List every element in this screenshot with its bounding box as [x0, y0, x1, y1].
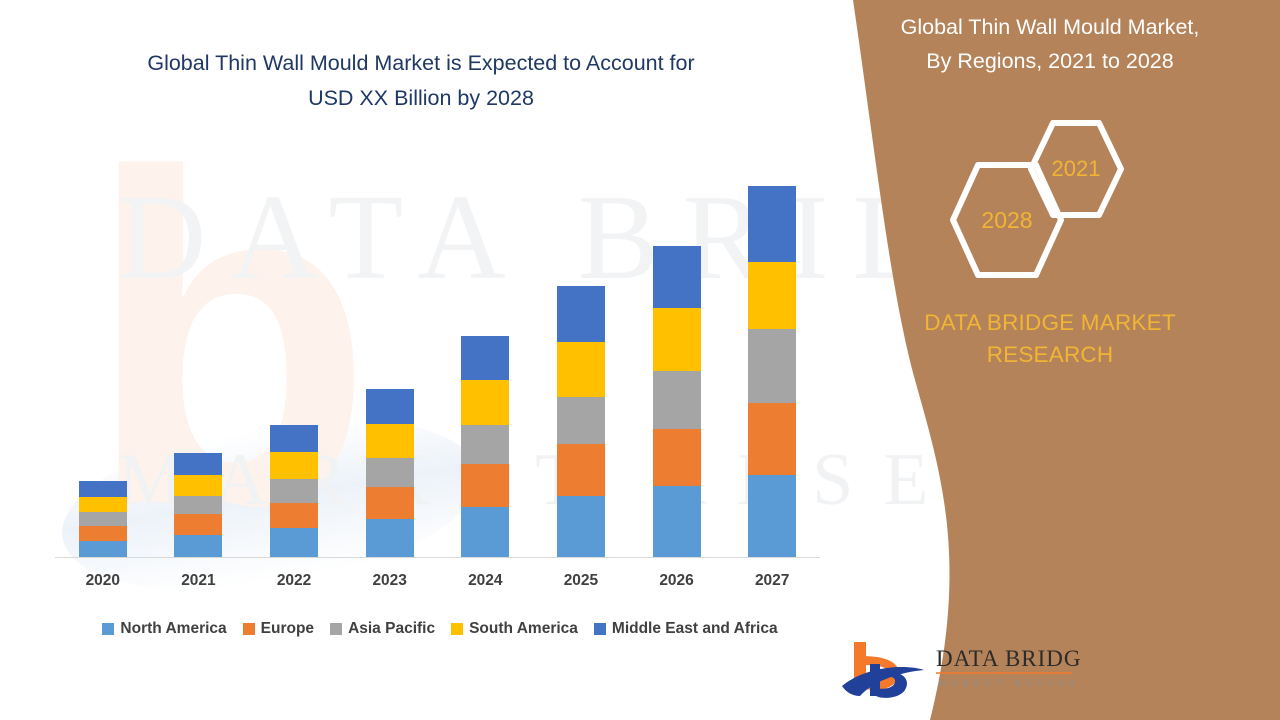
bar-segment-asia-pacific-2022[interactable] — [270, 479, 318, 502]
bar-segment-south-america-2024[interactable] — [461, 380, 509, 425]
bar-segment-europe-2026[interactable] — [653, 429, 701, 486]
bar-segment-europe-2023[interactable] — [366, 487, 414, 519]
bar-segment-north-america-2026[interactable] — [653, 486, 701, 558]
brand-line-1: DATA BRIDGE MARKET — [840, 307, 1260, 339]
bar-segment-europe-2025[interactable] — [557, 444, 605, 495]
legend-swatch-icon — [594, 623, 606, 635]
legend-label: Europe — [261, 620, 314, 638]
bar-segment-europe-2022[interactable] — [270, 503, 318, 528]
legend-item-middle-east-and-africa[interactable]: Middle East and Africa — [594, 620, 778, 638]
legend-label: North America — [120, 620, 226, 638]
x-axis-labels: 20202021202220232024202520262027 — [55, 572, 820, 596]
slide-canvas: b DATA BRIDGE MARKET RESEARCH Global Thi… — [0, 0, 1280, 720]
bar-segment-middle-east-and-africa-2021[interactable] — [174, 453, 222, 474]
logo-subtitle: MARKET RESEARCH — [938, 678, 1080, 688]
x-axis-label-2022: 2022 — [259, 572, 329, 590]
bar-segment-north-america-2020[interactable] — [79, 541, 127, 558]
bar-2027[interactable] — [748, 150, 796, 558]
panel-title-line-2: By Regions, 2021 to 2028 — [840, 44, 1260, 78]
bar-segment-asia-pacific-2027[interactable] — [748, 329, 796, 403]
legend-item-south-america[interactable]: South America — [451, 620, 578, 638]
bar-segment-asia-pacific-2020[interactable] — [79, 512, 127, 526]
bar-segment-middle-east-and-africa-2020[interactable] — [79, 481, 127, 497]
bar-segment-south-america-2021[interactable] — [174, 475, 222, 496]
legend-label: South America — [469, 620, 578, 638]
bar-segment-south-america-2027[interactable] — [748, 262, 796, 329]
x-axis-label-2021: 2021 — [163, 572, 233, 590]
brand-name: DATA BRIDGE MARKET RESEARCH — [840, 307, 1260, 371]
hexagon-group: 2028 2021 — [820, 118, 1280, 288]
legend-item-europe[interactable]: Europe — [243, 620, 314, 638]
legend-swatch-icon — [102, 623, 114, 635]
right-panel: Global Thin Wall Mould Market, By Region… — [820, 0, 1280, 720]
bar-segment-south-america-2026[interactable] — [653, 308, 701, 370]
bar-segment-middle-east-and-africa-2026[interactable] — [653, 246, 701, 308]
bar-segment-south-america-2020[interactable] — [79, 497, 127, 513]
legend-item-asia-pacific[interactable]: Asia Pacific — [330, 620, 435, 638]
x-axis-label-2026: 2026 — [642, 572, 712, 590]
bar-segment-south-america-2022[interactable] — [270, 452, 318, 479]
panel-title-line-1: Global Thin Wall Mould Market, — [840, 10, 1260, 44]
x-axis-label-2023: 2023 — [355, 572, 425, 590]
bar-segment-middle-east-and-africa-2027[interactable] — [748, 186, 796, 262]
bar-2024[interactable] — [461, 150, 509, 558]
bar-segment-north-america-2022[interactable] — [270, 528, 318, 558]
bar-segment-south-america-2025[interactable] — [557, 342, 605, 396]
x-axis-label-2027: 2027 — [737, 572, 807, 590]
hexagon-2021: 2021 — [1026, 118, 1126, 220]
legend-label: Asia Pacific — [348, 620, 435, 638]
bar-segment-europe-2027[interactable] — [748, 403, 796, 476]
bar-segment-south-america-2023[interactable] — [366, 424, 414, 458]
bar-segment-europe-2024[interactable] — [461, 464, 509, 507]
bar-segment-north-america-2024[interactable] — [461, 507, 509, 558]
hexagon-2021-label: 2021 — [1026, 118, 1126, 220]
bar-segment-north-america-2023[interactable] — [366, 519, 414, 558]
bar-segment-north-america-2027[interactable] — [748, 475, 796, 558]
bar-segment-middle-east-and-africa-2023[interactable] — [366, 389, 414, 424]
bar-segment-north-america-2021[interactable] — [174, 535, 222, 558]
bar-2020[interactable] — [79, 150, 127, 558]
brand-line-2: RESEARCH — [840, 339, 1260, 371]
data-bridge-logo: DATA BRIDGE MARKET RESEARCH — [840, 636, 1080, 702]
bar-segment-north-america-2025[interactable] — [557, 496, 605, 558]
panel-title: Global Thin Wall Mould Market, By Region… — [840, 10, 1260, 78]
logo-mark-icon: DATA BRIDGE MARKET RESEARCH — [840, 636, 1080, 702]
bar-segment-asia-pacific-2021[interactable] — [174, 496, 222, 514]
x-axis-label-2024: 2024 — [450, 572, 520, 590]
x-axis-label-2025: 2025 — [546, 572, 616, 590]
bar-2023[interactable] — [366, 150, 414, 558]
legend-label: Middle East and Africa — [612, 620, 778, 638]
bar-segment-asia-pacific-2023[interactable] — [366, 458, 414, 487]
legend-item-north-america[interactable]: North America — [102, 620, 226, 638]
chart-legend: North AmericaEuropeAsia PacificSouth Ame… — [55, 617, 825, 641]
bar-2021[interactable] — [174, 150, 222, 558]
chart-title-line-2: USD XX Billion by 2028 — [64, 81, 778, 116]
stacked-bar-plot — [55, 150, 820, 558]
legend-swatch-icon — [243, 623, 255, 635]
bar-segment-asia-pacific-2025[interactable] — [557, 397, 605, 445]
bar-2025[interactable] — [557, 150, 605, 558]
legend-swatch-icon — [451, 623, 463, 635]
bar-segment-europe-2021[interactable] — [174, 514, 222, 534]
x-axis-label-2020: 2020 — [68, 572, 138, 590]
bar-segment-europe-2020[interactable] — [79, 526, 127, 541]
bar-segment-asia-pacific-2026[interactable] — [653, 371, 701, 429]
chart-title-line-1: Global Thin Wall Mould Market is Expecte… — [64, 46, 778, 81]
bar-segment-middle-east-and-africa-2024[interactable] — [461, 336, 509, 381]
legend-swatch-icon — [330, 623, 342, 635]
bar-segment-middle-east-and-africa-2025[interactable] — [557, 286, 605, 342]
chart-title: Global Thin Wall Mould Market is Expecte… — [64, 46, 778, 116]
bar-segment-asia-pacific-2024[interactable] — [461, 425, 509, 464]
bar-segment-middle-east-and-africa-2022[interactable] — [270, 425, 318, 452]
bar-2026[interactable] — [653, 150, 701, 558]
x-axis-line — [55, 557, 820, 558]
bar-2022[interactable] — [270, 150, 318, 558]
logo-title: DATA BRIDGE — [936, 646, 1080, 671]
